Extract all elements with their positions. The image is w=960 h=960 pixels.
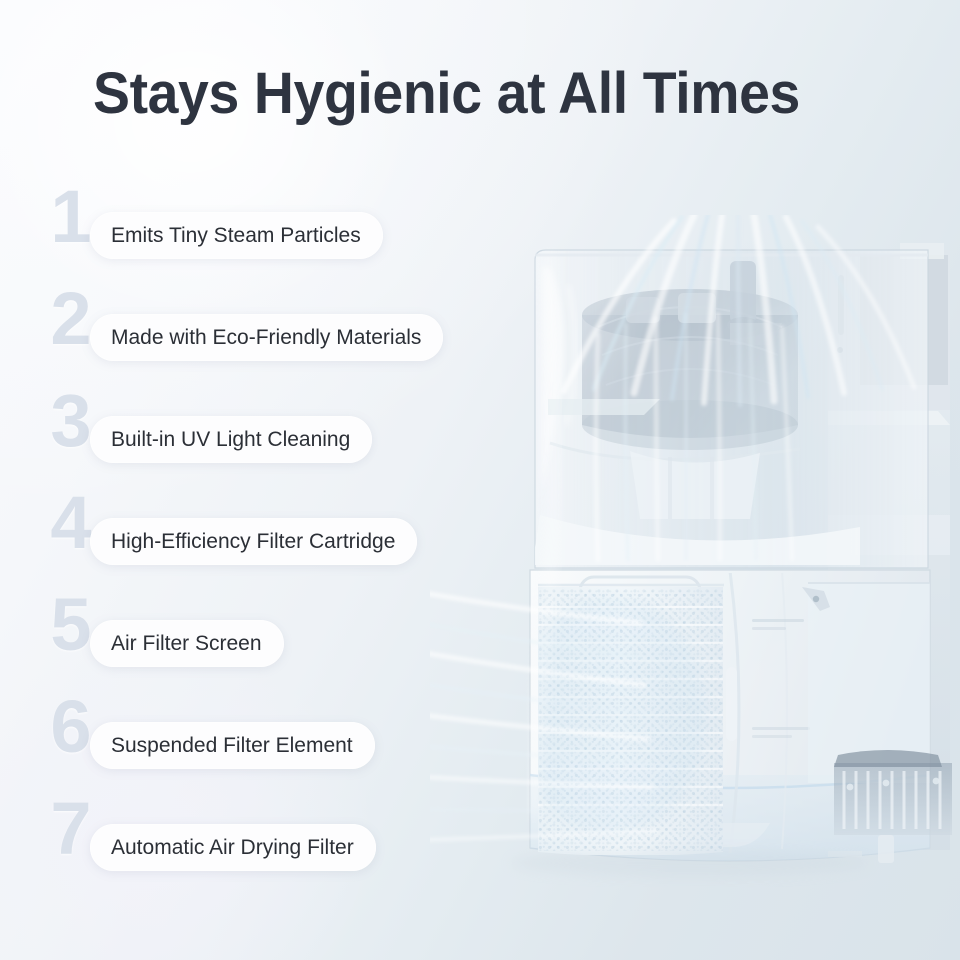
feature-pill-4[interactable]: High-Efficiency Filter Cartridge [90,518,417,565]
poster-canvas: Stays Hygienic at All Times 1 Emits Tiny… [0,0,960,960]
feature-row-5: 5 Air Filter Screen [0,594,540,696]
feature-row-7: 7 Automatic Air Drying Filter [0,798,540,900]
feature-row-4: 4 High-Efficiency Filter Cartridge [0,492,540,594]
feature-label-5: Air Filter Screen [111,633,262,654]
feature-pill-5[interactable]: Air Filter Screen [90,620,284,667]
feature-row-6: 6 Suspended Filter Element [0,696,540,798]
feature-label-2: Made with Eco-Friendly Materials [111,327,421,348]
feature-label-4: High-Efficiency Filter Cartridge [111,531,395,552]
feature-row-2: 2 Made with Eco-Friendly Materials [0,288,540,390]
feature-label-6: Suspended Filter Element [111,735,353,756]
feature-row-1: 1 Emits Tiny Steam Particles [0,186,540,288]
page-title: Stays Hygienic at All Times [93,64,800,125]
feature-pill-6[interactable]: Suspended Filter Element [90,722,375,769]
feature-pill-1[interactable]: Emits Tiny Steam Particles [90,212,383,259]
feature-label-7: Automatic Air Drying Filter [111,837,354,858]
feature-list: 1 Emits Tiny Steam Particles 2 Made with… [0,186,540,900]
feature-row-3: 3 Built-in UV Light Cleaning [0,390,540,492]
feature-label-3: Built-in UV Light Cleaning [111,429,350,450]
feature-pill-7[interactable]: Automatic Air Drying Filter [90,824,376,871]
feature-label-1: Emits Tiny Steam Particles [111,225,361,246]
product-upper-tank [530,250,928,579]
feature-pill-3[interactable]: Built-in UV Light Cleaning [90,416,372,463]
feature-pill-2[interactable]: Made with Eco-Friendly Materials [90,314,443,361]
